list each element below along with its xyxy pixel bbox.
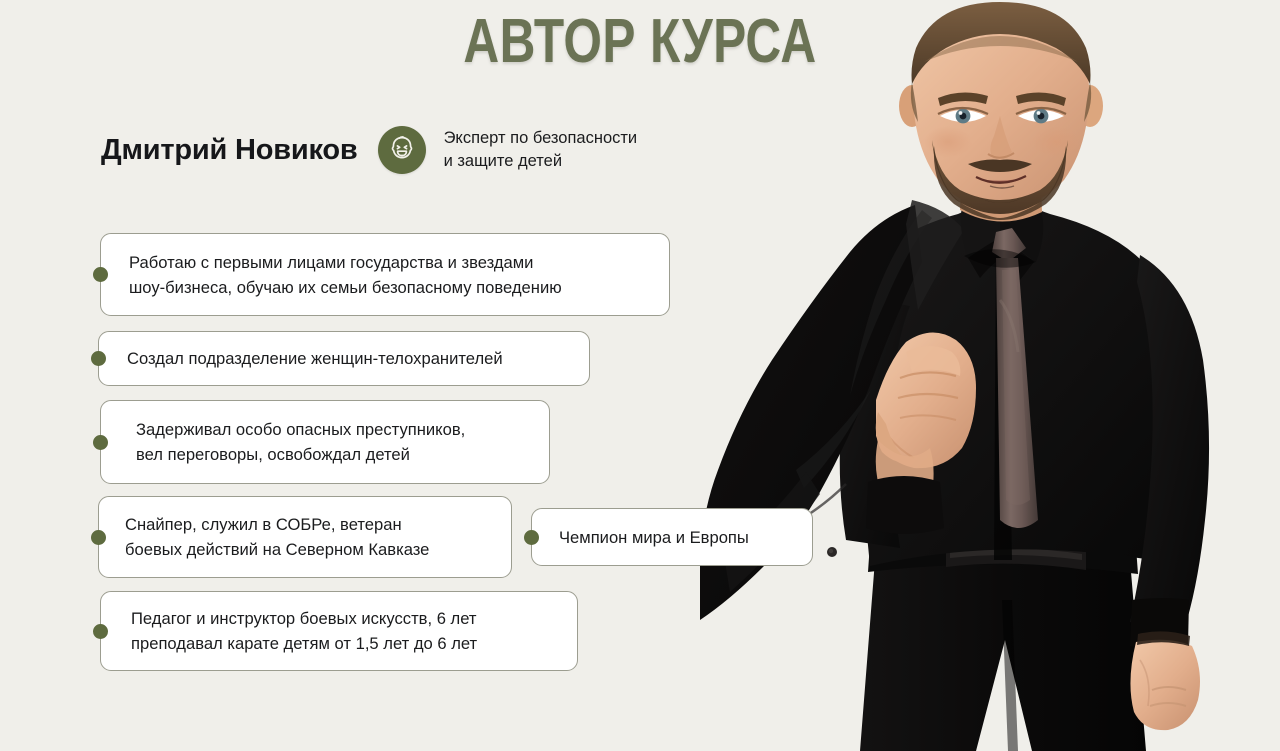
author-name: Дмитрий Новиков bbox=[101, 134, 358, 167]
baby-face-icon bbox=[378, 126, 426, 174]
fact-card: Работаю с первыми лицами государства и з… bbox=[100, 233, 670, 316]
fact-bullet-dot bbox=[93, 435, 108, 450]
fact-card: Снайпер, служил в СОБРе, ветеран боевых … bbox=[98, 496, 512, 578]
author-header: Дмитрий Новиков Эксперт по безопасности … bbox=[101, 126, 637, 174]
fact-card: Педагог и инструктор боевых искусств, 6 … bbox=[100, 591, 578, 671]
fact-card-text: Создал подразделение женщин-телохранител… bbox=[127, 346, 503, 371]
fact-card-text: Чемпион мира и Европы bbox=[559, 525, 749, 550]
fact-card-text: Работаю с первыми лицами государства и з… bbox=[129, 250, 562, 300]
fact-card-secondary: Чемпион мира и Европы bbox=[531, 508, 813, 566]
author-role: Эксперт по безопасности и защите детей bbox=[444, 127, 638, 173]
fact-card: Задерживал особо опасных преступников, в… bbox=[100, 400, 550, 484]
page-root: АВТОР КУРСА Дмитрий Новиков Эксперт по б… bbox=[0, 0, 1280, 751]
page-title: АВТОР КУРСА bbox=[128, 8, 1152, 76]
fact-bullet-dot bbox=[91, 530, 106, 545]
fact-card-text: Педагог и инструктор боевых искусств, 6 … bbox=[131, 606, 477, 656]
fact-card-text: Задерживал особо опасных преступников, в… bbox=[136, 417, 465, 467]
fact-bullet-dot bbox=[93, 624, 108, 639]
fact-bullet-dot bbox=[91, 351, 106, 366]
fact-bullet-dot bbox=[524, 530, 539, 545]
fact-card-text: Снайпер, служил в СОБРе, ветеран боевых … bbox=[125, 512, 429, 562]
author-photo bbox=[700, 0, 1280, 751]
fact-bullet-dot bbox=[93, 267, 108, 282]
fact-card: Создал подразделение женщин-телохранител… bbox=[98, 331, 590, 386]
